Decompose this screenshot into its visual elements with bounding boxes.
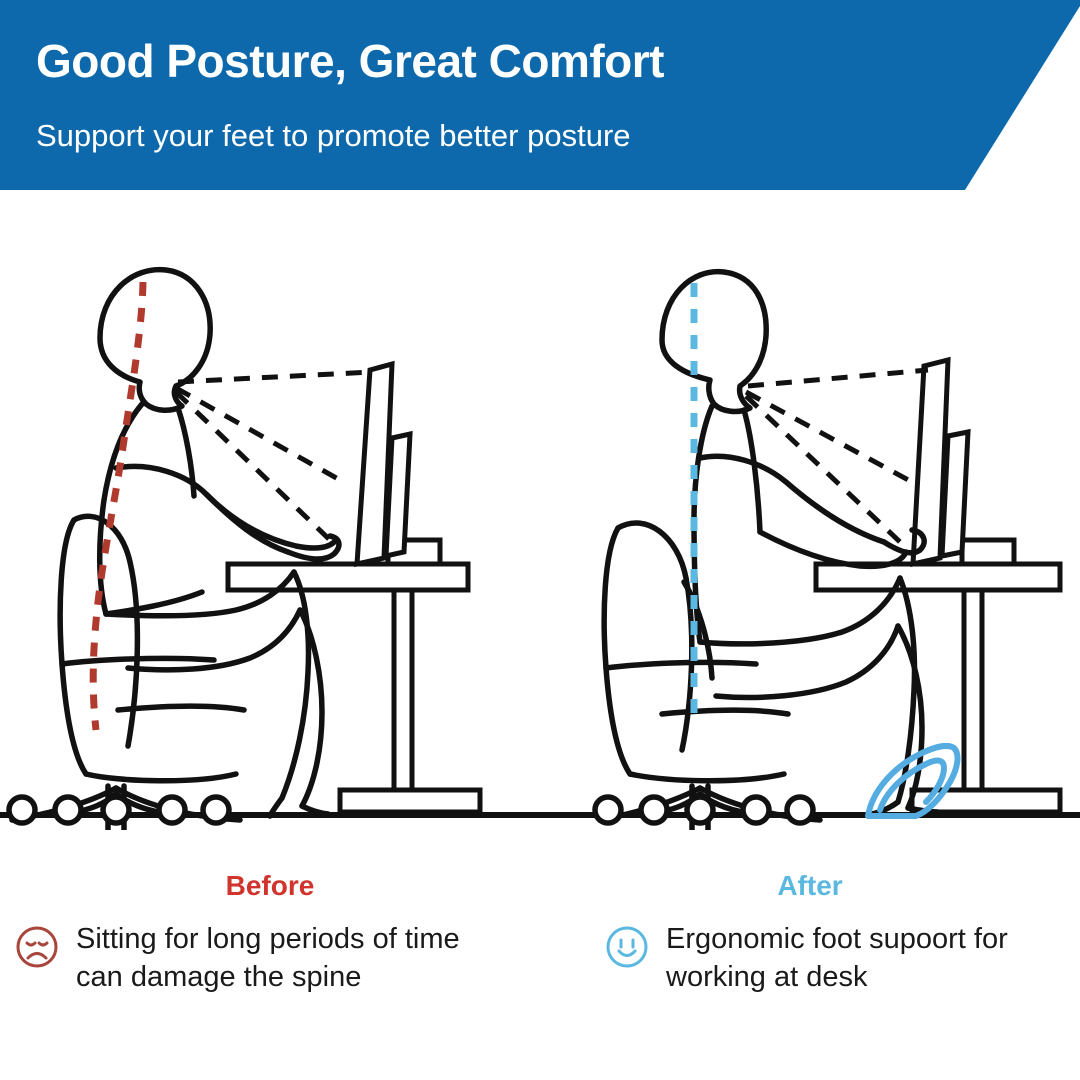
chair-before bbox=[9, 516, 244, 830]
desk-before bbox=[228, 540, 480, 812]
sight-lines-after bbox=[746, 370, 928, 542]
sad-face-icon bbox=[14, 924, 60, 975]
before-caption-row: Sitting for long periods of time can dam… bbox=[14, 920, 460, 997]
after-heading: After bbox=[540, 870, 1080, 902]
page-title: Good Posture, Great Comfort bbox=[36, 34, 664, 88]
page-subtitle: Support your feet to promote better post… bbox=[36, 118, 631, 154]
monitor-before bbox=[357, 364, 410, 564]
posture-illustration: .ln { fill:none; stroke:#111111; stroke-… bbox=[0, 190, 1080, 830]
header-banner: Good Posture, Great Comfort Support your… bbox=[0, 0, 1080, 190]
chair-after bbox=[595, 523, 820, 830]
before-posture-scene bbox=[9, 270, 480, 830]
sight-lines-before bbox=[176, 372, 372, 540]
posture-comparison-svg: .ln { fill:none; stroke:#111111; stroke-… bbox=[0, 190, 1080, 830]
before-caption-text: Sitting for long periods of time can dam… bbox=[76, 920, 460, 997]
before-heading: Before bbox=[0, 870, 540, 902]
caption-column-after: After Ergonomic foot supoort for working… bbox=[540, 840, 1080, 1080]
infographic-page: Good Posture, Great Comfort Support your… bbox=[0, 0, 1080, 1080]
person-before bbox=[100, 270, 339, 816]
after-posture-scene bbox=[595, 272, 1060, 830]
smiley-face-icon bbox=[604, 924, 650, 975]
after-caption-text: Ergonomic foot supoort for working at de… bbox=[666, 920, 1008, 997]
caption-column-before: Before Sitting for long periods of time … bbox=[0, 840, 540, 1080]
person-after bbox=[662, 272, 938, 814]
after-caption-row: Ergonomic foot supoort for working at de… bbox=[604, 920, 1008, 997]
caption-area: Before Sitting for long periods of time … bbox=[0, 840, 1080, 1080]
